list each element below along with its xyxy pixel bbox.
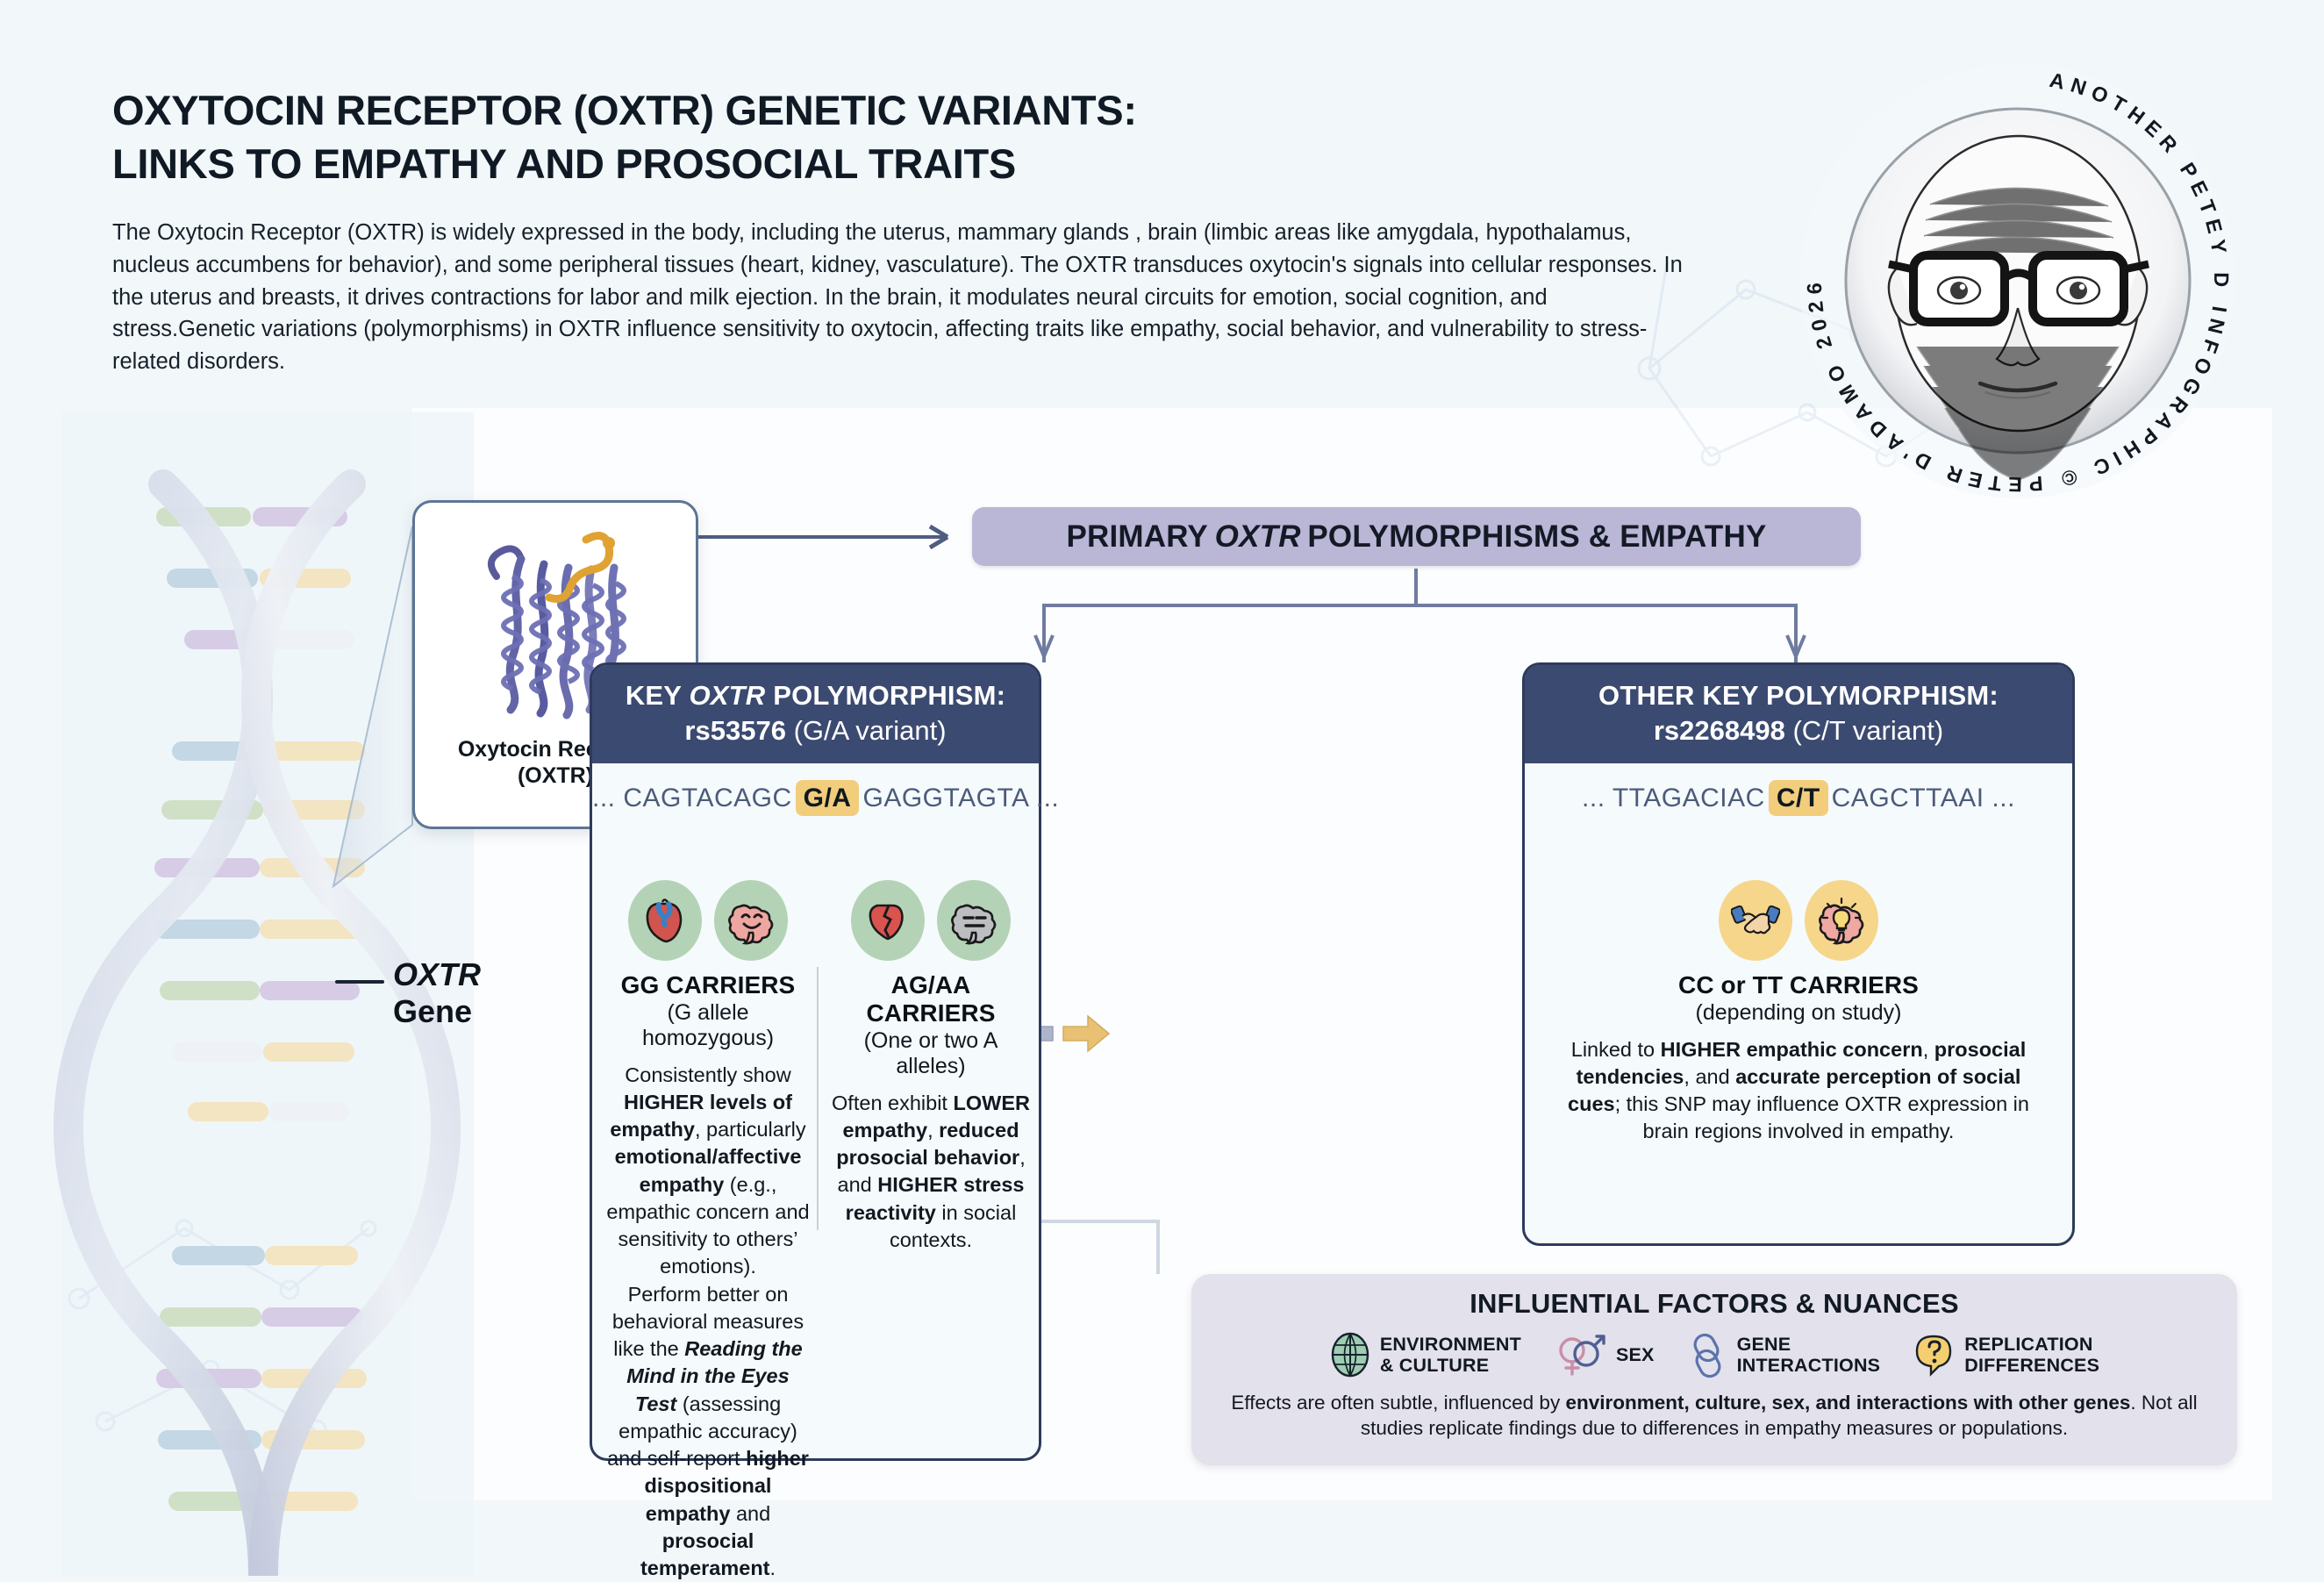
sequence-rs2268498: ... TTAGACIACC/TCAGCTTAAI ... xyxy=(1525,763,2072,813)
card-left-variant: (G/A variant) xyxy=(794,715,947,746)
page-header: OXYTOCIN RECEPTOR (OXTR) GENETIC VARIANT… xyxy=(112,83,1604,378)
cctt-icons xyxy=(1560,880,2037,961)
card-right-variant: (C/T variant) xyxy=(1792,715,1943,746)
group-gg-carriers: GG CARRIERS (G allele homozygous) Consis… xyxy=(604,880,812,1582)
sequence-suffix-right: CAGCTTAAI ... xyxy=(1832,784,2015,812)
polymorphism-card-rs2268498: OTHER KEY POLYMORPHISM: rs2268498 (C/T v… xyxy=(1522,662,2075,1246)
group-cc-tt-carriers: CC or TT CARRIERS (depending on study) L… xyxy=(1525,813,2072,1146)
broken-heart-icon xyxy=(851,880,925,961)
receptor-caption-line-2: (OXTR) xyxy=(518,763,593,788)
intro-paragraph: The Oxytocin Receptor (OXTR) is widely e… xyxy=(112,217,1691,378)
neutral-brain-icon xyxy=(937,880,1011,961)
page-title: OXYTOCIN RECEPTOR (OXTR) GENETIC VARIANT… xyxy=(112,83,1604,190)
gene-label-line-1: OXTR xyxy=(393,956,481,992)
primary-banner: PRIMARY OXTR POLYMORPHISMS & EMPATHY xyxy=(972,507,1861,566)
author-seal: ANOTHER PETEY D INFOGRAPHIC © PETER D'AD… xyxy=(1785,48,2250,513)
sequence-suffix: GAGGTAGTA ... xyxy=(862,784,1059,812)
cctt-title: CC or TT CARRIERS xyxy=(1560,971,2037,999)
gene-label: OXTR Gene xyxy=(393,956,481,1031)
gg-subtitle: (G allele homozygous) xyxy=(604,1000,812,1051)
factor-environment-culture: ENVIRONMENT & CULTURE xyxy=(1329,1331,1521,1378)
cctt-body: Linked to HIGHER empathic concern, proso… xyxy=(1560,1036,2037,1146)
idea-brain-icon xyxy=(1805,880,1878,961)
factor-gene-label: GENE INTERACTIONS xyxy=(1737,1334,1881,1376)
polymorphism-card-rs53576: KEY OXTR POLYMORPHISM: rs53576 (G/A vari… xyxy=(590,662,1041,1461)
sequence-prefix: ... CAGTACAGC xyxy=(592,784,792,812)
card-right-header-pre: OTHER KEY POLYMORPHISM: xyxy=(1598,680,1999,711)
factor-environment-label: ENVIRONMENT & CULTURE xyxy=(1380,1334,1521,1376)
sequence-rs53576: ... CAGTACAGCG/AGAGGTAGTA ... xyxy=(592,763,1039,813)
agaa-title: AG/AA CARRIERS xyxy=(827,971,1034,1027)
primary-banner-gene: OXTR xyxy=(1208,519,1307,555)
card-header-rs2268498: OTHER KEY POLYMORPHISM: rs2268498 (C/T v… xyxy=(1525,665,2072,763)
factors-row: ENVIRONMENT & CULTURE SEX GENE INTERACTI… xyxy=(1211,1331,2218,1378)
primary-banner-post: POLYMORPHISMS & EMPATHY xyxy=(1307,519,1766,555)
card-left-header-post: POLYMORPHISM: xyxy=(773,680,1005,711)
gg-icons xyxy=(604,880,812,961)
sequence-variant-badge-right: C/T xyxy=(1769,780,1828,816)
gg-title: GG CARRIERS xyxy=(604,971,812,999)
gene-leader-line xyxy=(335,980,384,984)
agaa-body: Often exhibit LOWER empathy, reduced pro… xyxy=(827,1090,1034,1255)
title-line-2: LINKS TO EMPATHY AND PROSOCIAL TRAITS xyxy=(112,140,1016,187)
sequence-prefix-right: ... TTAGACIAC xyxy=(1582,784,1765,812)
agaa-icons xyxy=(827,880,1034,961)
influential-factors-panel: INFLUENTIAL FACTORS & NUANCES ENVIRONMEN… xyxy=(1191,1274,2237,1465)
factors-title: INFLUENTIAL FACTORS & NUANCES xyxy=(1211,1288,2218,1320)
question-bubble-icon xyxy=(1912,1331,1956,1378)
sequence-variant-badge: G/A xyxy=(796,780,860,816)
primary-banner-pre: PRIMARY xyxy=(1066,519,1208,555)
handshake-icon xyxy=(1719,880,1792,961)
card-left-header-gene: OXTR xyxy=(689,680,765,711)
factor-sex-label: SEX xyxy=(1616,1344,1655,1365)
gene-label-line-2: Gene xyxy=(393,993,472,1029)
factor-sex: SEX xyxy=(1553,1331,1655,1378)
cctt-subtitle: (depending on study) xyxy=(1560,1000,2037,1026)
chain-link-icon xyxy=(1686,1331,1728,1378)
heart-icon xyxy=(628,880,702,961)
factor-replication-differences: REPLICATION DIFFERENCES xyxy=(1912,1331,2099,1378)
sex-symbols-icon xyxy=(1553,1331,1607,1378)
card-left-rsid: rs53576 xyxy=(684,715,786,746)
factor-replication-label: REPLICATION DIFFERENCES xyxy=(1964,1334,2099,1376)
factors-note: Effects are often subtle, influenced by … xyxy=(1211,1391,2218,1442)
dna-helix-illustration xyxy=(68,484,446,1576)
card-header-rs53576: KEY OXTR POLYMORPHISM: rs53576 (G/A vari… xyxy=(592,665,1039,763)
card-right-rsid: rs2268498 xyxy=(1654,715,1785,746)
factor-gene-interactions: GENE INTERACTIONS xyxy=(1686,1331,1881,1378)
gg-body: Consistently show HIGHER levels of empat… xyxy=(604,1062,812,1582)
group-ag-aa-carriers: AG/AA CARRIERS (One or two A alleles) Of… xyxy=(827,880,1034,1255)
happy-brain-icon xyxy=(714,880,788,961)
agaa-subtitle: (One or two A alleles) xyxy=(827,1028,1034,1079)
card-left-header-pre: KEY xyxy=(626,680,682,711)
globe-icon xyxy=(1329,1331,1371,1378)
title-line-1: OXYTOCIN RECEPTOR (OXTR) GENETIC VARIANT… xyxy=(112,87,1137,133)
